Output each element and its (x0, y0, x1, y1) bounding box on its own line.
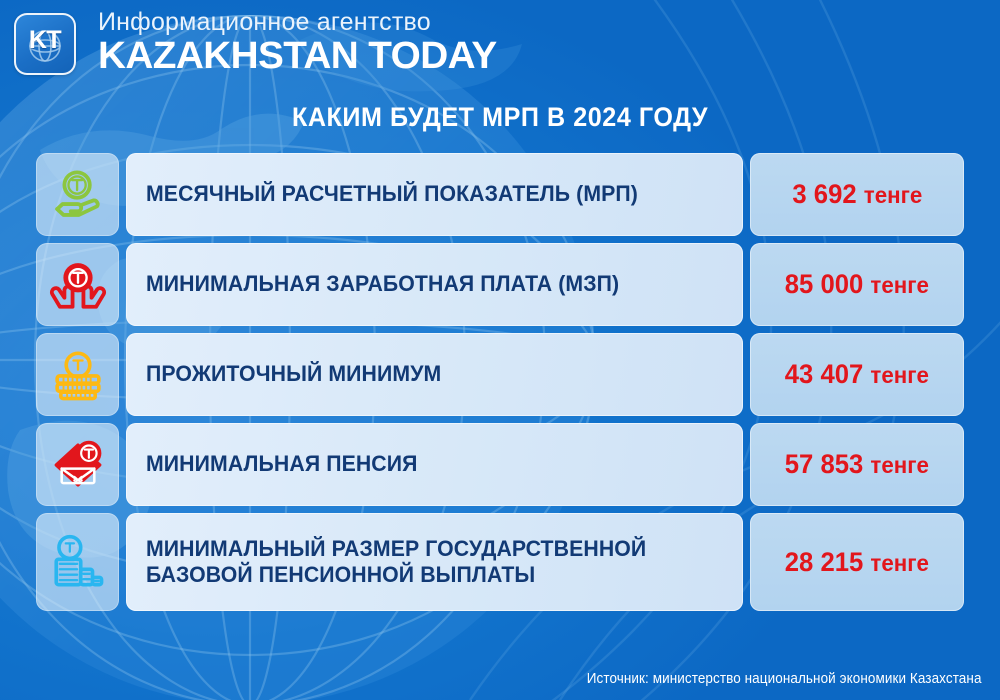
indicator-value: 28 215 тенге (785, 549, 929, 576)
source-note: Источник: министерство национальной экон… (587, 672, 982, 687)
brand-title: KAZAKHSTAN TODAY (98, 37, 497, 77)
indicator-value: 43 407 тенге (785, 361, 929, 388)
row-icon-cell (36, 153, 119, 236)
indicator-label: МИНИМАЛЬНАЯ ПЕНСИЯ (146, 451, 418, 477)
row-label-cell: МЕСЯЧНЫЙ РАСЧЕТНЫЙ ПОКАЗАТЕЛЬ (МРП) (126, 153, 743, 236)
row-icon-cell (36, 243, 119, 326)
kt-logo-text: KT (16, 28, 74, 53)
table-row: ПРОЖИТОЧНЫЙ МИНИМУМ 43 407 тенге (36, 333, 964, 416)
indicator-value: 85 000 тенге (785, 271, 929, 298)
brand-subtitle: Информационное агентство (98, 9, 489, 35)
row-value-cell: 85 000 тенге (750, 243, 964, 326)
indicator-value: 57 853 тенге (785, 451, 929, 478)
indicator-label: МИНИМАЛЬНАЯ ЗАРАБОТНАЯ ПЛАТА (МЗП) (146, 271, 619, 297)
coin-stack-icon (49, 346, 107, 404)
indicator-value: 3 692 тенге (792, 181, 922, 208)
descending-coin-stacks-icon (49, 533, 107, 591)
row-label-cell: МИНИМАЛЬНАЯ ЗАРАБОТНАЯ ПЛАТА (МЗП) (126, 243, 743, 326)
indicator-label: ПРОЖИТОЧНЫЙ МИНИМУМ (146, 361, 441, 387)
indicators-table: МЕСЯЧНЫЙ РАСЧЕТНЫЙ ПОКАЗАТЕЛЬ (МРП) 3 69… (36, 153, 964, 611)
two-hands-coin-icon (49, 256, 107, 314)
indicator-label: МИНИМАЛЬНЫЙ РАЗМЕР ГОСУДАРСТВЕННОЙ БАЗОВ… (146, 536, 646, 588)
row-value-cell: 43 407 тенге (750, 333, 964, 416)
row-value-cell: 28 215 тенге (750, 513, 964, 611)
table-row: МЕСЯЧНЫЙ РАСЧЕТНЫЙ ПОКАЗАТЕЛЬ (МРП) 3 69… (36, 153, 964, 236)
hand-holding-coin-icon (49, 166, 107, 224)
site-header: KT Информационное агентство KAZAKHSTAN T… (0, 0, 1000, 88)
kt-logo[interactable]: KT (14, 13, 76, 75)
row-value-cell: 57 853 тенге (750, 423, 964, 506)
row-value-cell: 3 692 тенге (750, 153, 964, 236)
row-icon-cell (36, 333, 119, 416)
table-row: МИНИМАЛЬНЫЙ РАЗМЕР ГОСУДАРСТВЕННОЙ БАЗОВ… (36, 513, 964, 611)
row-icon-cell (36, 423, 119, 506)
table-row: МИНИМАЛЬНАЯ ПЕНСИЯ 57 853 тенге (36, 423, 964, 506)
table-row: МИНИМАЛЬНАЯ ЗАРАБОТНАЯ ПЛАТА (МЗП) 85 00… (36, 243, 964, 326)
envelope-coin-icon (49, 436, 107, 494)
row-icon-cell (36, 513, 119, 611)
page-title: КАКИМ БУДЕТ МРП В 2024 ГОДУ (35, 104, 965, 131)
row-label-cell: ПРОЖИТОЧНЫЙ МИНИМУМ (126, 333, 743, 416)
indicator-label: МЕСЯЧНЫЙ РАСЧЕТНЫЙ ПОКАЗАТЕЛЬ (МРП) (146, 181, 638, 207)
row-label-cell: МИНИМАЛЬНЫЙ РАЗМЕР ГОСУДАРСТВЕННОЙ БАЗОВ… (126, 513, 743, 611)
row-label-cell: МИНИМАЛЬНАЯ ПЕНСИЯ (126, 423, 743, 506)
brand-block: Информационное агентство KAZAKHSTAN TODA… (98, 9, 489, 77)
